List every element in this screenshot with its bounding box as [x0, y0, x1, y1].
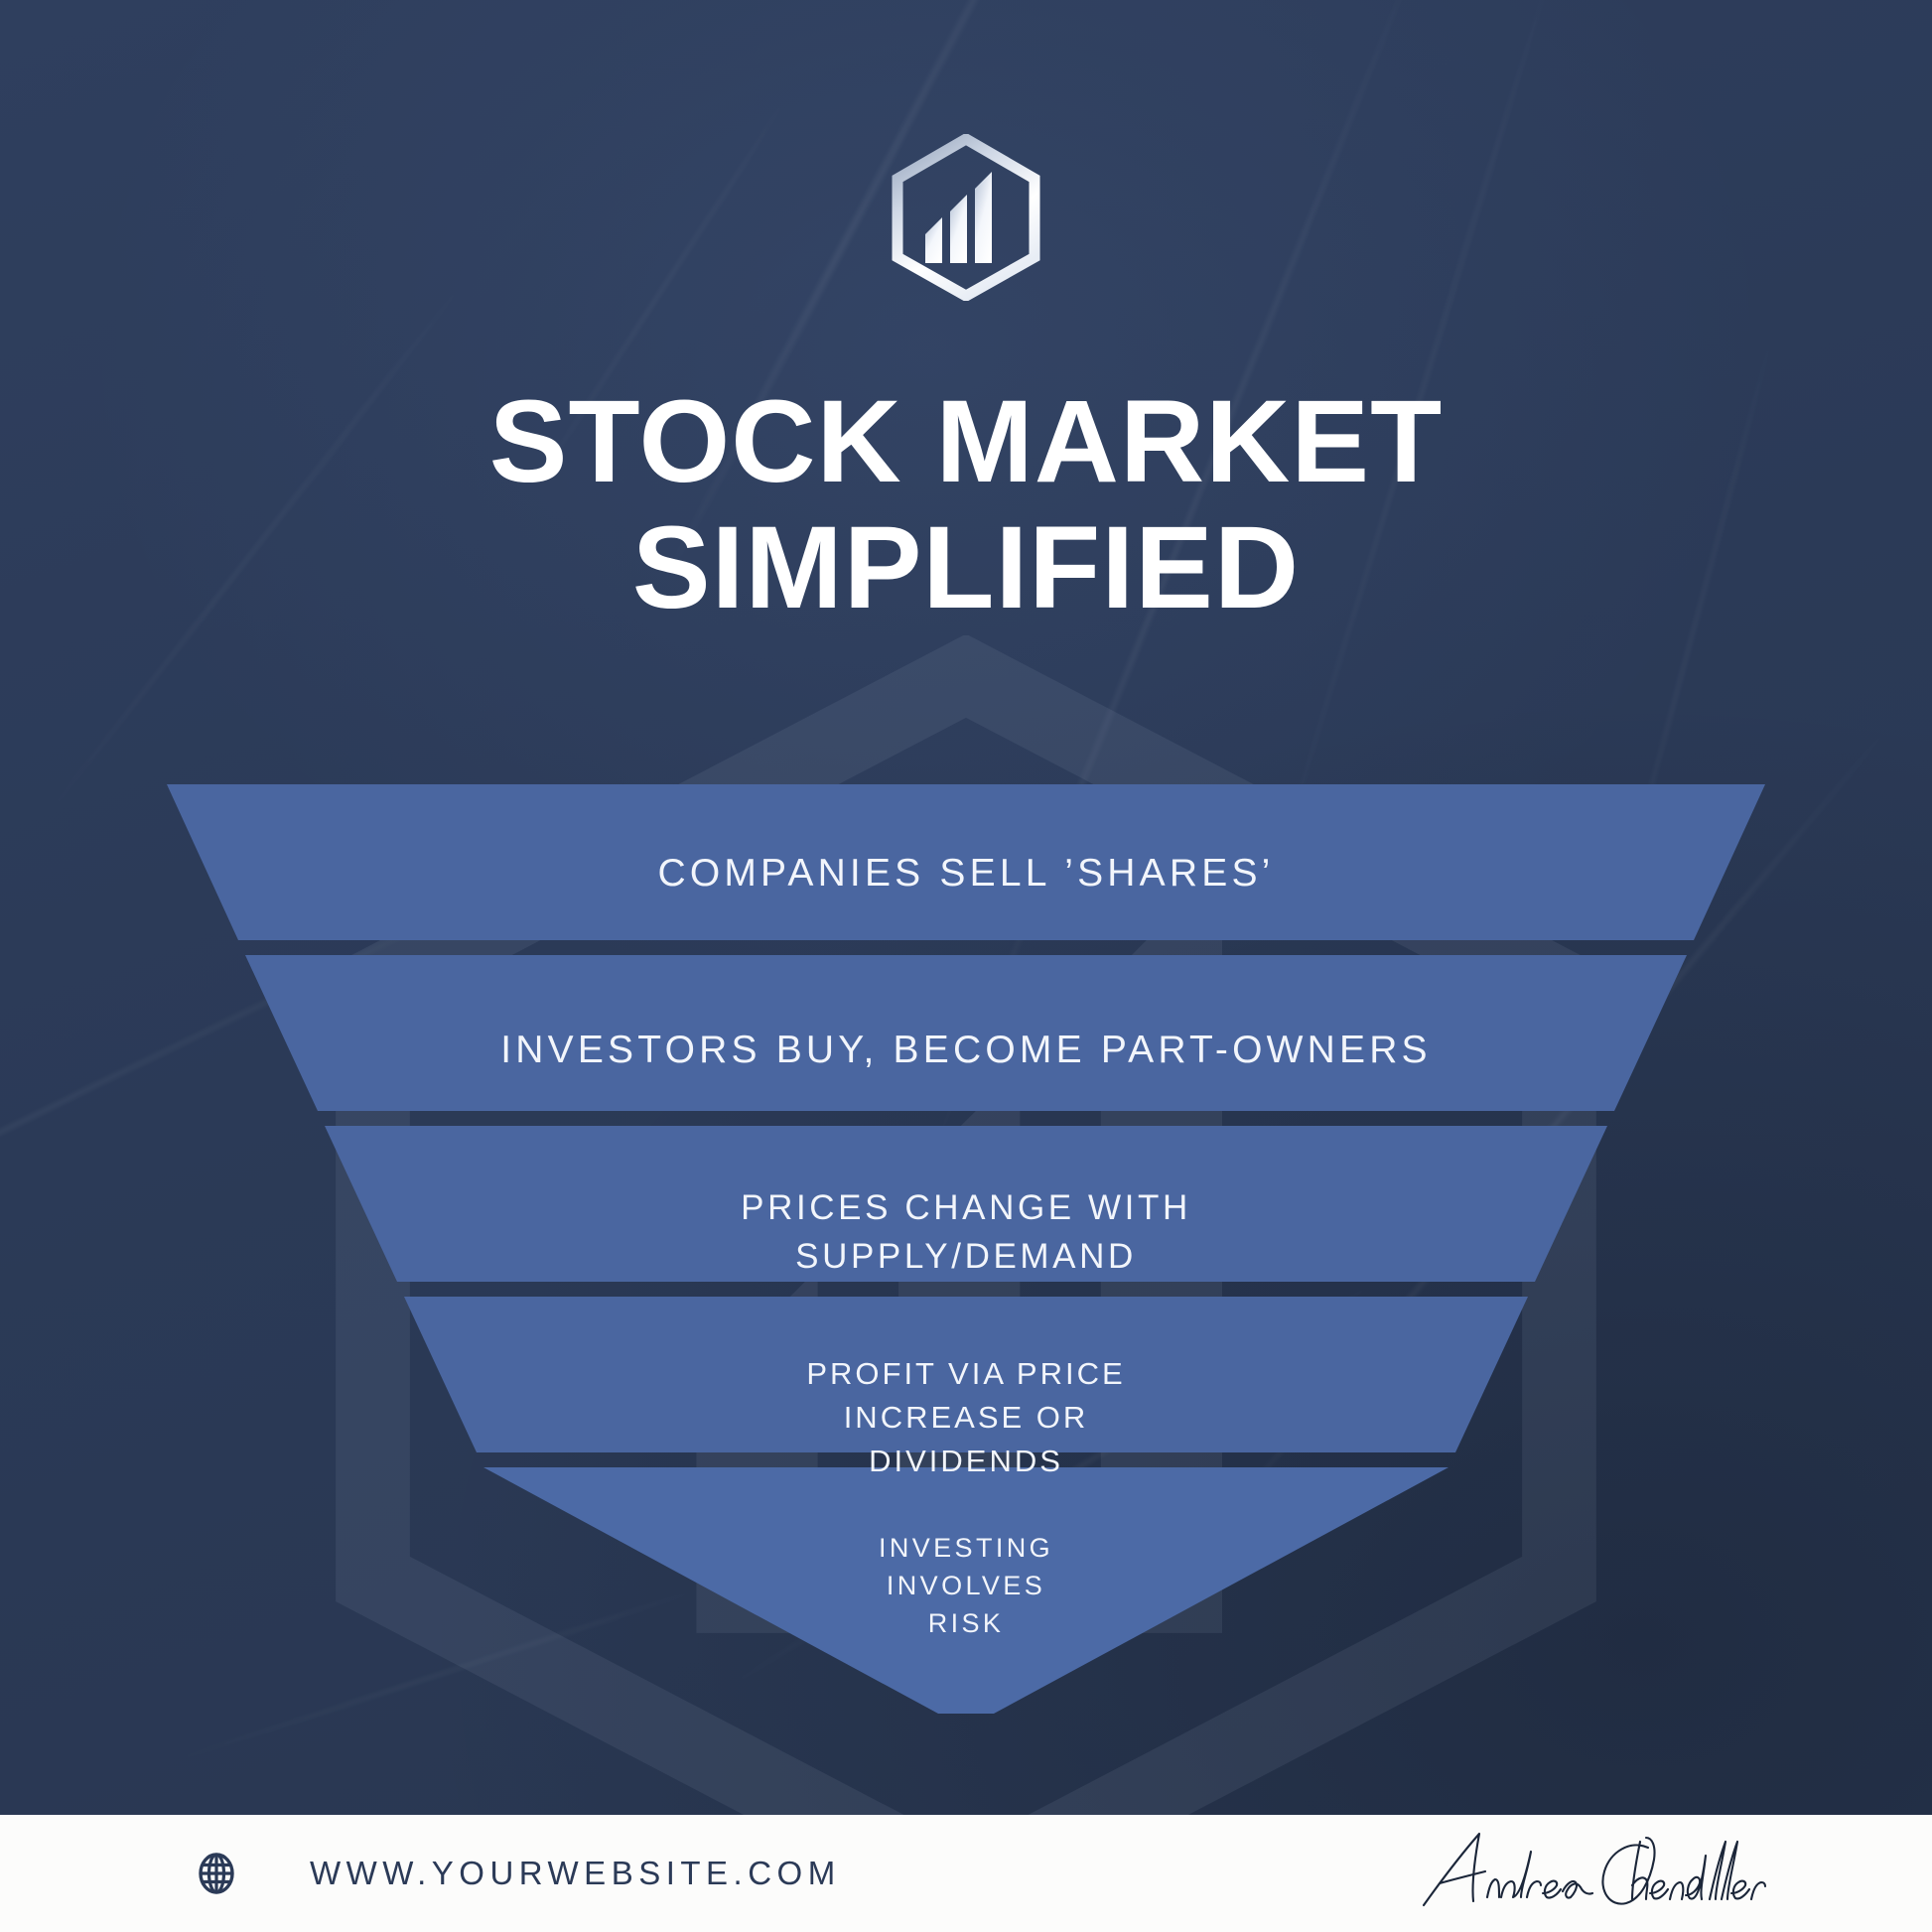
- page-title: STOCK MARKET SIMPLIFIED: [0, 379, 1932, 632]
- website-url[interactable]: WWW.YOURWEBSITE.COM: [310, 1855, 841, 1892]
- funnel-band-5-label: INVESTING INVOLVES RISK: [0, 1529, 1932, 1642]
- funnel-band-3-line-2: SUPPLY/DEMAND: [0, 1232, 1932, 1281]
- title-line-1: STOCK MARKET: [489, 376, 1443, 507]
- footer-bar: WWW.YOURWEBSITE.COM Andrea Chandler: [0, 1815, 1932, 1932]
- title-line-2: SIMPLIFIED: [0, 505, 1932, 631]
- footer-website-group[interactable]: WWW.YOURWEBSITE.COM: [195, 1852, 841, 1895]
- signature-andrea-chandler: Andrea Chandler: [1410, 1826, 1777, 1921]
- funnel-band-1-label: COMPANIES SELL ’SHARES’: [0, 849, 1932, 898]
- infographic-poster: STOCK MARKET SIMPLIFIED COMPANIES SELL ’…: [0, 0, 1932, 1932]
- funnel-band-3-label: PRICES CHANGE WITH SUPPLY/DEMAND: [0, 1183, 1932, 1281]
- funnel-band-1-line-1: COMPANIES SELL ’SHARES’: [0, 849, 1932, 898]
- hexagon-chart-logo-icon: [888, 134, 1044, 301]
- funnel-band-4-line-3: DIVIDENDS: [0, 1440, 1932, 1483]
- funnel-band-5-line-2: INVOLVES: [0, 1567, 1932, 1604]
- funnel-band-4-line-2: INCREASE OR: [0, 1396, 1932, 1440]
- funnel-band-4-label: PROFIT VIA PRICE INCREASE OR DIVIDENDS: [0, 1352, 1932, 1483]
- funnel-band-2-label: INVESTORS BUY, BECOME PART-OWNERS: [0, 1026, 1932, 1075]
- funnel-band-2-line-1: INVESTORS BUY, BECOME PART-OWNERS: [0, 1026, 1932, 1075]
- funnel-band-5-line-3: RISK: [0, 1604, 1932, 1642]
- globe-icon: [195, 1852, 238, 1895]
- funnel-band-3-line-1: PRICES CHANGE WITH: [0, 1183, 1932, 1232]
- funnel-band-5-line-1: INVESTING: [0, 1529, 1932, 1567]
- funnel-band-4-line-1: PROFIT VIA PRICE: [0, 1352, 1932, 1396]
